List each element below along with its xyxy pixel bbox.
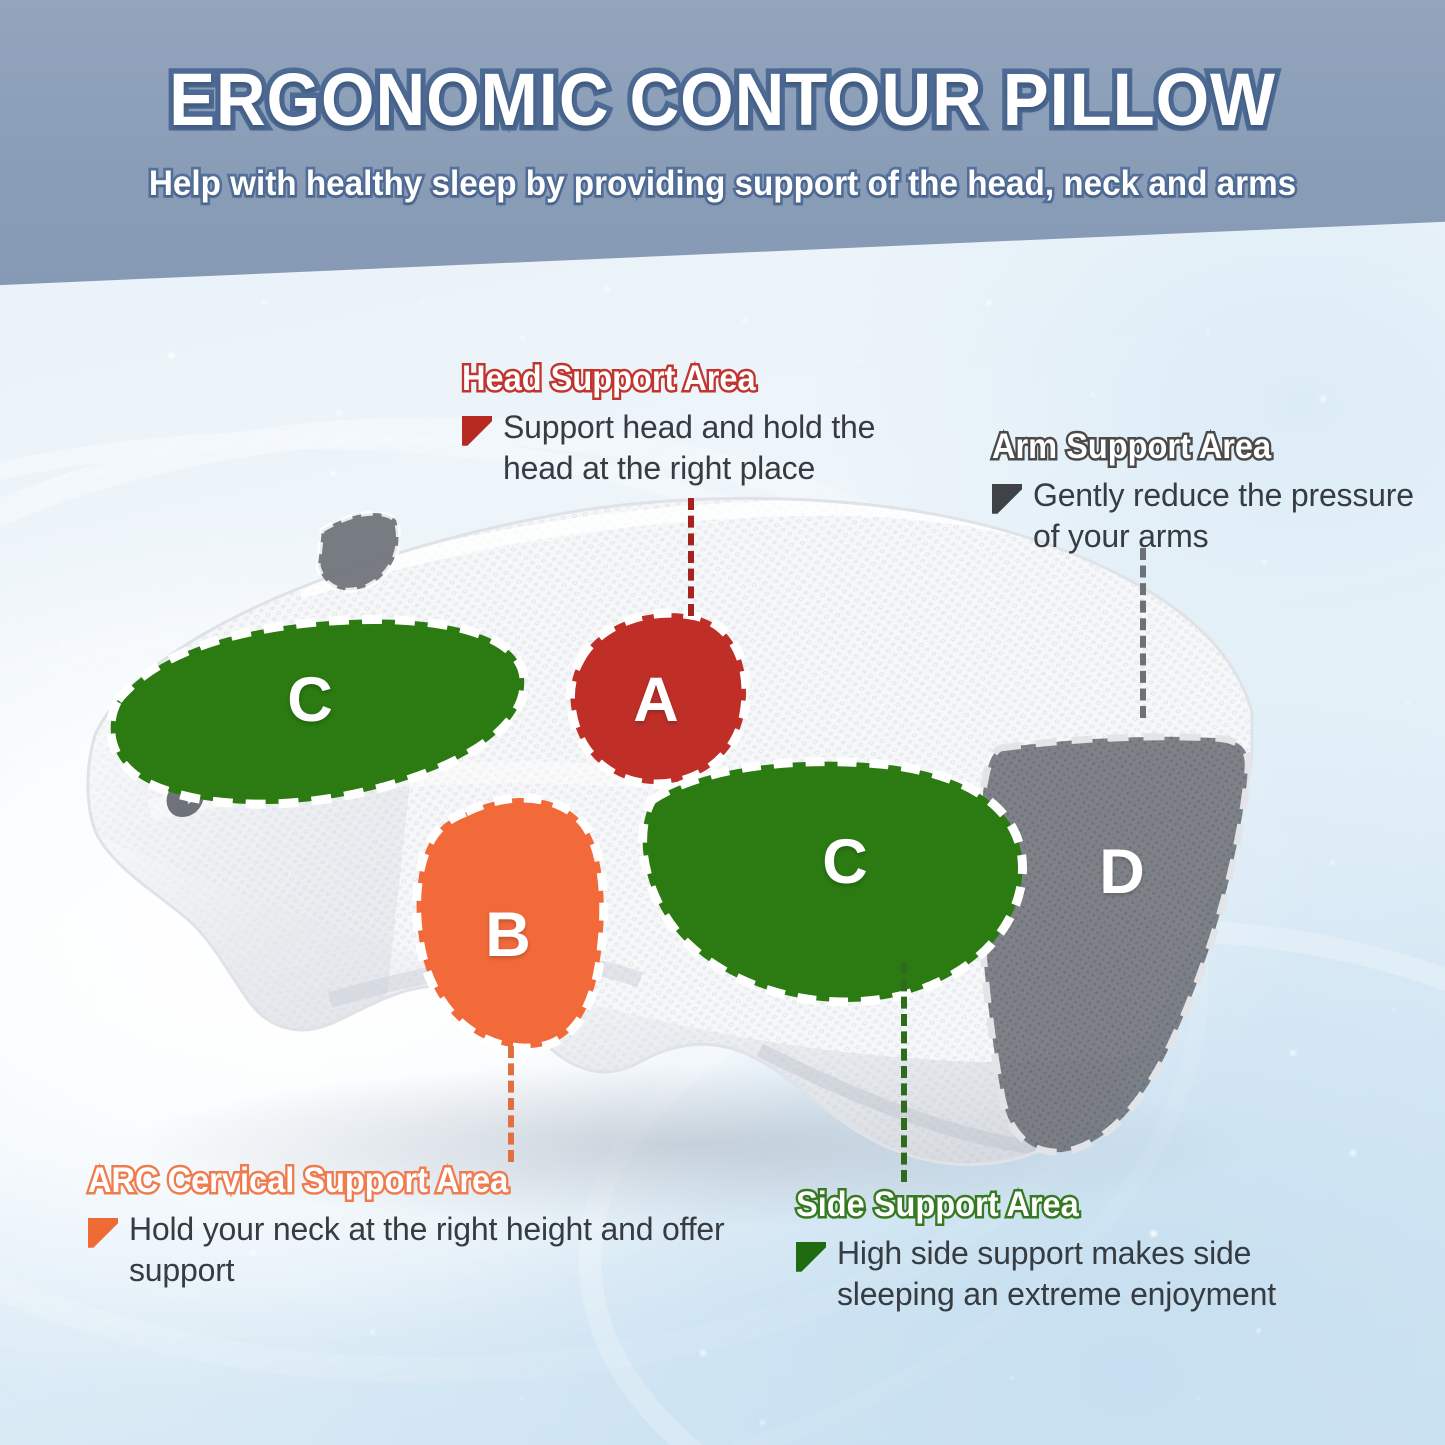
- callout-cervical-text: Hold your neck at the right height and o…: [129, 1209, 728, 1292]
- connector-cervical-to-zone-B: [508, 1046, 514, 1162]
- bullet-marker-icon: [992, 484, 1022, 514]
- callout-arm-support: Arm Support Area Gently reduce the press…: [992, 428, 1432, 558]
- connector-head-to-zone-A: [688, 498, 694, 616]
- header: ERGONOMIC CONTOUR PILLOW Help with healt…: [0, 0, 1445, 204]
- connector-side-to-zone-C: [901, 962, 907, 1182]
- bullet-marker-icon: [796, 1242, 826, 1272]
- callout-arm-text: Gently reduce the pressure of your arms: [1033, 475, 1432, 558]
- connector-arm-to-zone-D: [1140, 548, 1146, 718]
- infographic-page: ERGONOMIC CONTOUR PILLOW Help with healt…: [0, 0, 1445, 1445]
- callout-head-text: Support head and hold the head at the ri…: [503, 407, 892, 490]
- zone-D: [980, 737, 1249, 1152]
- bullet-marker-icon: [88, 1218, 118, 1248]
- page-title: ERGONOMIC CONTOUR PILLOW: [51, 57, 1395, 142]
- callout-arm-title: Arm Support Area: [992, 428, 1401, 466]
- callout-head-support: Head Support Area Support head and hold …: [462, 360, 892, 490]
- callout-side-text: High side support makes side sleeping an…: [837, 1233, 1316, 1316]
- page-subtitle: Help with healthy sleep by providing sup…: [36, 164, 1409, 204]
- zone-B: [417, 798, 604, 1048]
- bullet-marker-icon: [462, 416, 492, 446]
- callout-cervical-title: ARC Cervical Support Area: [88, 1162, 683, 1200]
- callout-cervical-support: ARC Cervical Support Area Hold your neck…: [88, 1162, 728, 1292]
- callout-side-support: Side Support Area High side support make…: [796, 1186, 1316, 1316]
- callout-head-title: Head Support Area: [462, 360, 862, 398]
- callout-side-title: Side Support Area: [796, 1186, 1280, 1224]
